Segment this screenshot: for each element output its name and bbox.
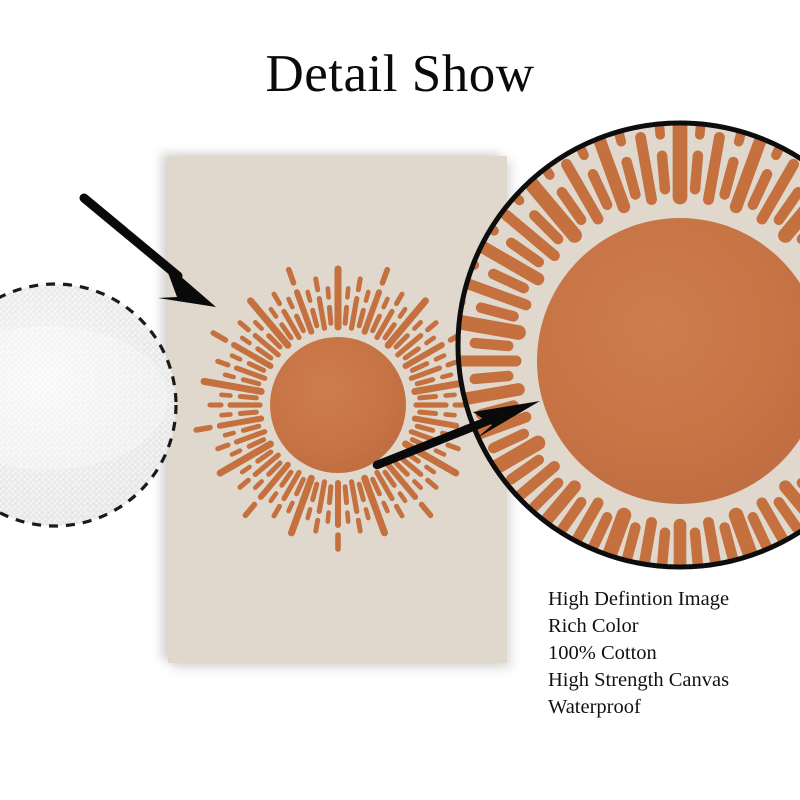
arrow-to-magnifier — [360, 385, 560, 485]
sun-ray — [271, 493, 276, 500]
sun-ray — [359, 484, 363, 499]
sun-ray — [328, 513, 329, 522]
sun-ray — [776, 567, 784, 572]
sun-ray — [384, 299, 388, 307]
sun-ray — [695, 533, 698, 566]
sun-ray — [255, 322, 261, 328]
sun-ray — [428, 323, 436, 330]
sun-ray — [442, 375, 451, 377]
sun-ray — [345, 487, 346, 503]
feature-item: High Strength Canvas — [548, 667, 798, 694]
sun-ray — [400, 309, 405, 316]
sun-ray — [426, 338, 433, 343]
sun-ray — [474, 188, 492, 203]
sun-ray — [240, 323, 248, 330]
sun-ray — [723, 118, 727, 119]
sun-ray — [366, 292, 368, 301]
sun-ray — [412, 364, 427, 371]
sun-ray — [328, 288, 329, 297]
sun-ray — [255, 481, 261, 487]
sun-ray — [479, 491, 494, 502]
sun-ray — [366, 509, 368, 518]
sun-ray — [417, 380, 432, 384]
sun-ray — [695, 156, 698, 189]
sun-ray — [313, 484, 317, 499]
sun-ray — [319, 482, 324, 512]
sun-ray — [397, 506, 403, 516]
sun-ray — [242, 338, 249, 343]
sun-ray — [358, 520, 360, 531]
sun-ray — [474, 519, 492, 534]
sun-ray — [453, 340, 454, 342]
sun-ray — [453, 381, 454, 383]
magnifier-circle — [453, 118, 800, 572]
sun-ray — [196, 428, 210, 430]
sun-ray — [274, 506, 280, 516]
sun-ray — [352, 299, 357, 329]
sun-ray — [289, 503, 293, 511]
sun-ray — [225, 433, 234, 435]
sun-ray — [475, 376, 508, 379]
sun-ray — [297, 316, 304, 331]
sun-ray — [576, 567, 584, 572]
sun-ray — [436, 356, 444, 360]
feature-item: Rich Color — [548, 613, 798, 640]
sun-ray — [633, 118, 637, 119]
arrow-to-poster — [60, 180, 240, 330]
sun-ray — [218, 361, 228, 365]
sun-ray — [232, 451, 240, 455]
sun-ray — [358, 279, 360, 290]
sun-ray — [539, 547, 550, 562]
sun-ray — [359, 310, 363, 325]
sun-ray — [308, 509, 310, 518]
sun-ray — [243, 380, 258, 384]
feature-list: High Defintion Image Rich Color 100% Cot… — [548, 586, 798, 721]
sun-ray — [221, 414, 230, 415]
sun-ray — [662, 156, 665, 189]
sun-ray — [249, 364, 264, 371]
sun-ray — [414, 322, 420, 328]
sun-ray — [506, 522, 519, 535]
detail-show-graphic: Detail Show — [0, 0, 800, 800]
sun-ray — [289, 299, 293, 307]
sun-ray — [289, 270, 294, 283]
sun-ray — [453, 297, 461, 302]
sun-ray — [384, 503, 388, 511]
sun-ray — [243, 426, 258, 430]
sun-ray — [297, 479, 304, 494]
sun-ray — [319, 299, 324, 329]
sun-ray — [397, 294, 403, 304]
sun-ray — [313, 310, 317, 325]
sun-ray — [240, 412, 256, 413]
sun-ray — [400, 493, 405, 500]
sun-ray — [373, 316, 380, 331]
sun-ray — [347, 513, 348, 522]
sun-ray — [546, 128, 558, 148]
sun-ray — [213, 333, 225, 340]
sun-ray — [345, 307, 346, 323]
sun-ray — [475, 343, 508, 346]
sun-ray — [316, 520, 318, 531]
sun-ray — [316, 279, 318, 290]
sun-ray — [242, 467, 249, 472]
page-title: Detail Show — [0, 48, 800, 101]
sun-ray — [329, 307, 330, 323]
feature-item: 100% Cotton — [548, 640, 798, 667]
sun-ray — [271, 309, 276, 316]
sun-ray — [352, 482, 357, 512]
sun-ray — [485, 570, 504, 572]
sun-ray — [221, 395, 230, 396]
sun-ray — [329, 487, 330, 503]
sun-ray — [232, 356, 240, 360]
feature-item: High Defintion Image — [548, 586, 798, 613]
sun-ray — [245, 505, 254, 516]
sun-ray — [225, 375, 234, 377]
sun-ray — [382, 270, 387, 283]
sun-ray — [240, 396, 256, 397]
sun-ray — [218, 445, 228, 449]
sun-ray — [308, 292, 310, 301]
sun-ray — [422, 505, 431, 516]
sun-ray — [347, 288, 348, 297]
sun-ray — [662, 533, 665, 566]
feature-item: Waterproof — [548, 694, 798, 721]
sun-ray — [240, 480, 248, 487]
sun-ray — [274, 294, 280, 304]
